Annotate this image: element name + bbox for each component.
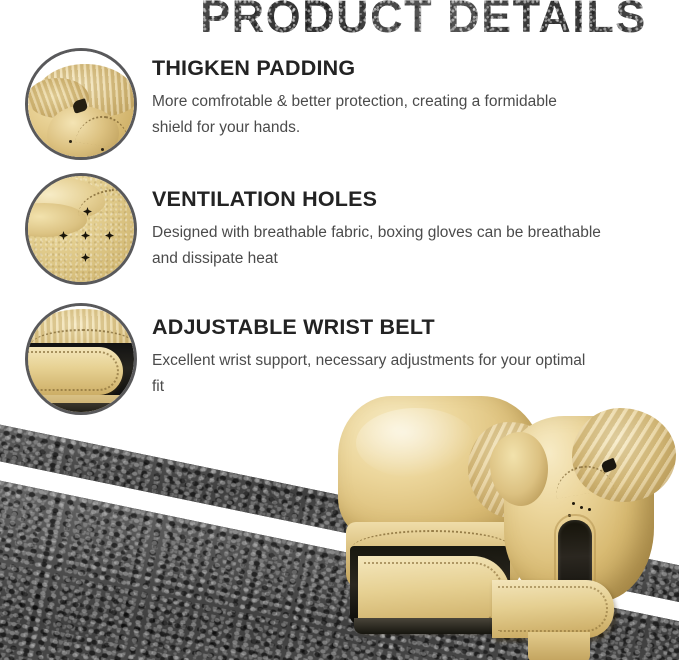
ventilation-hole: [580, 506, 583, 509]
product-details-poster: PRODUCT DETAILS THIGKEN PADDING More com…: [0, 0, 679, 660]
glove-highlight: [356, 408, 476, 478]
cuff-bottom-edge: [354, 618, 504, 634]
strap-tail: [528, 632, 590, 660]
strap-stitching: [498, 586, 608, 632]
boxing-gloves-group: [0, 0, 679, 660]
ventilation-hole: [588, 508, 591, 511]
glove-knuckle-fold: [490, 432, 548, 506]
boxing-glove-right: [498, 402, 679, 660]
ventilation-hole: [572, 502, 575, 505]
strap-stitching: [364, 562, 504, 624]
